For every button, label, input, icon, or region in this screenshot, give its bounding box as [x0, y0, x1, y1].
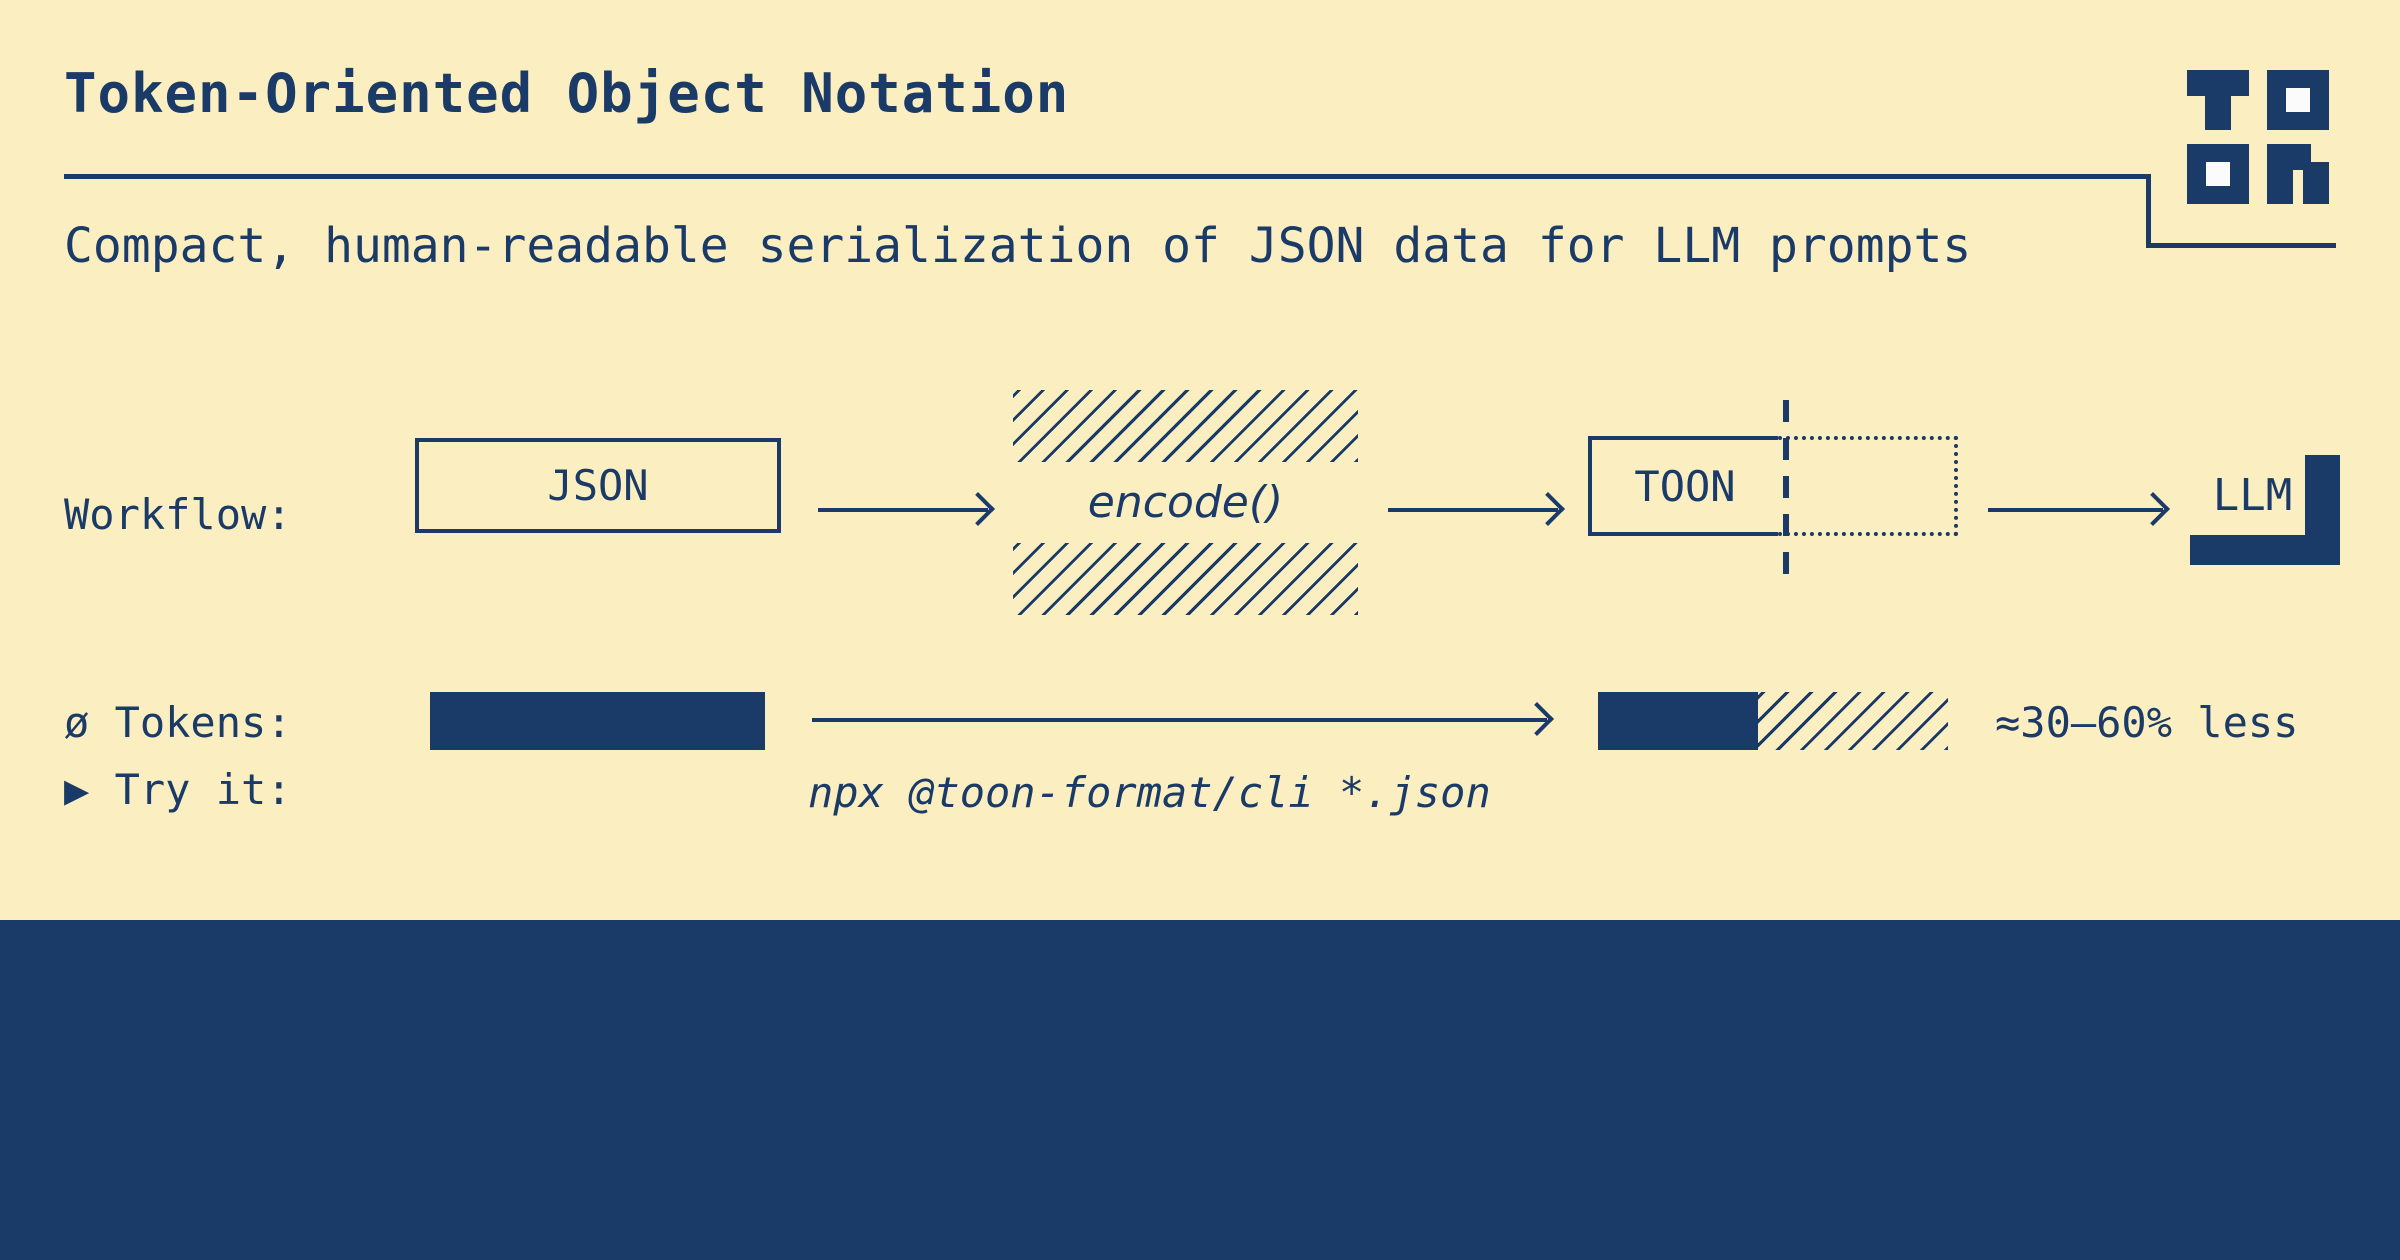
workflow-node-toon-dotted-half	[1778, 436, 1958, 536]
poster-root: Token-Oriented Object Notation Compact, …	[0, 0, 2400, 1260]
page-subtitle: Compact, human-readable serialization of…	[64, 218, 1971, 274]
comparison-panel: TOON → JSON → avg tokens retrieval accur…	[0, 920, 2400, 1260]
tokens-bar-toon	[1598, 692, 1948, 750]
logo-letter-t-stem	[2205, 96, 2231, 130]
workflow-node-llm-label: LLM	[2190, 455, 2315, 535]
workflow-node-json: JSON	[415, 438, 781, 533]
logo-letter-t-bar	[2187, 70, 2249, 96]
logo-letter-n-right	[2303, 162, 2329, 204]
tokens-bar-json	[430, 692, 765, 750]
logo-letter-o-bottom	[2187, 144, 2249, 204]
workflow-arrow-toon-to-llm	[1988, 508, 2163, 512]
encode-hatch-top	[1013, 390, 1358, 462]
header-rule-vertical	[2146, 174, 2151, 248]
workflow-toon-dashed-divider	[1783, 400, 1789, 576]
workflow-node-toon-solid-half: TOON	[1588, 436, 1778, 536]
logo-letter-o-top	[2267, 70, 2329, 130]
workflow-arrow-json-to-encode	[818, 508, 988, 512]
tokens-bar-toon-fill	[1598, 692, 1758, 750]
workflow-node-encode-label: encode()	[1013, 462, 1358, 543]
workflow-node-toon-label: TOON	[1634, 462, 1735, 511]
tryit-label: ▶ Try it:	[64, 765, 292, 814]
tokens-bar-toon-savings-hatch	[1758, 692, 1948, 750]
tryit-command[interactable]: npx @toon-format/cli *.json	[808, 768, 1491, 817]
toon-logo	[2187, 62, 2337, 212]
workflow-label: Workflow:	[64, 490, 292, 539]
tokens-savings-note: ≈30–60% less	[1995, 698, 2298, 747]
workflow-node-encode: encode()	[1013, 390, 1358, 615]
workflow-arrow-encode-to-toon	[1388, 508, 1558, 512]
tokens-comparison-arrow	[812, 718, 1547, 722]
encode-hatch-bottom	[1013, 543, 1358, 615]
header-rule-horizontal-lower	[2146, 243, 2336, 248]
workflow-node-llm: LLM	[2190, 455, 2340, 565]
header-rule-horizontal	[64, 174, 2151, 179]
page-title: Token-Oriented Object Notation	[64, 62, 1069, 125]
workflow-node-json-label: JSON	[547, 461, 648, 510]
workflow-node-toon: TOON	[1588, 436, 1958, 536]
tokens-label: ø Tokens:	[64, 698, 292, 747]
